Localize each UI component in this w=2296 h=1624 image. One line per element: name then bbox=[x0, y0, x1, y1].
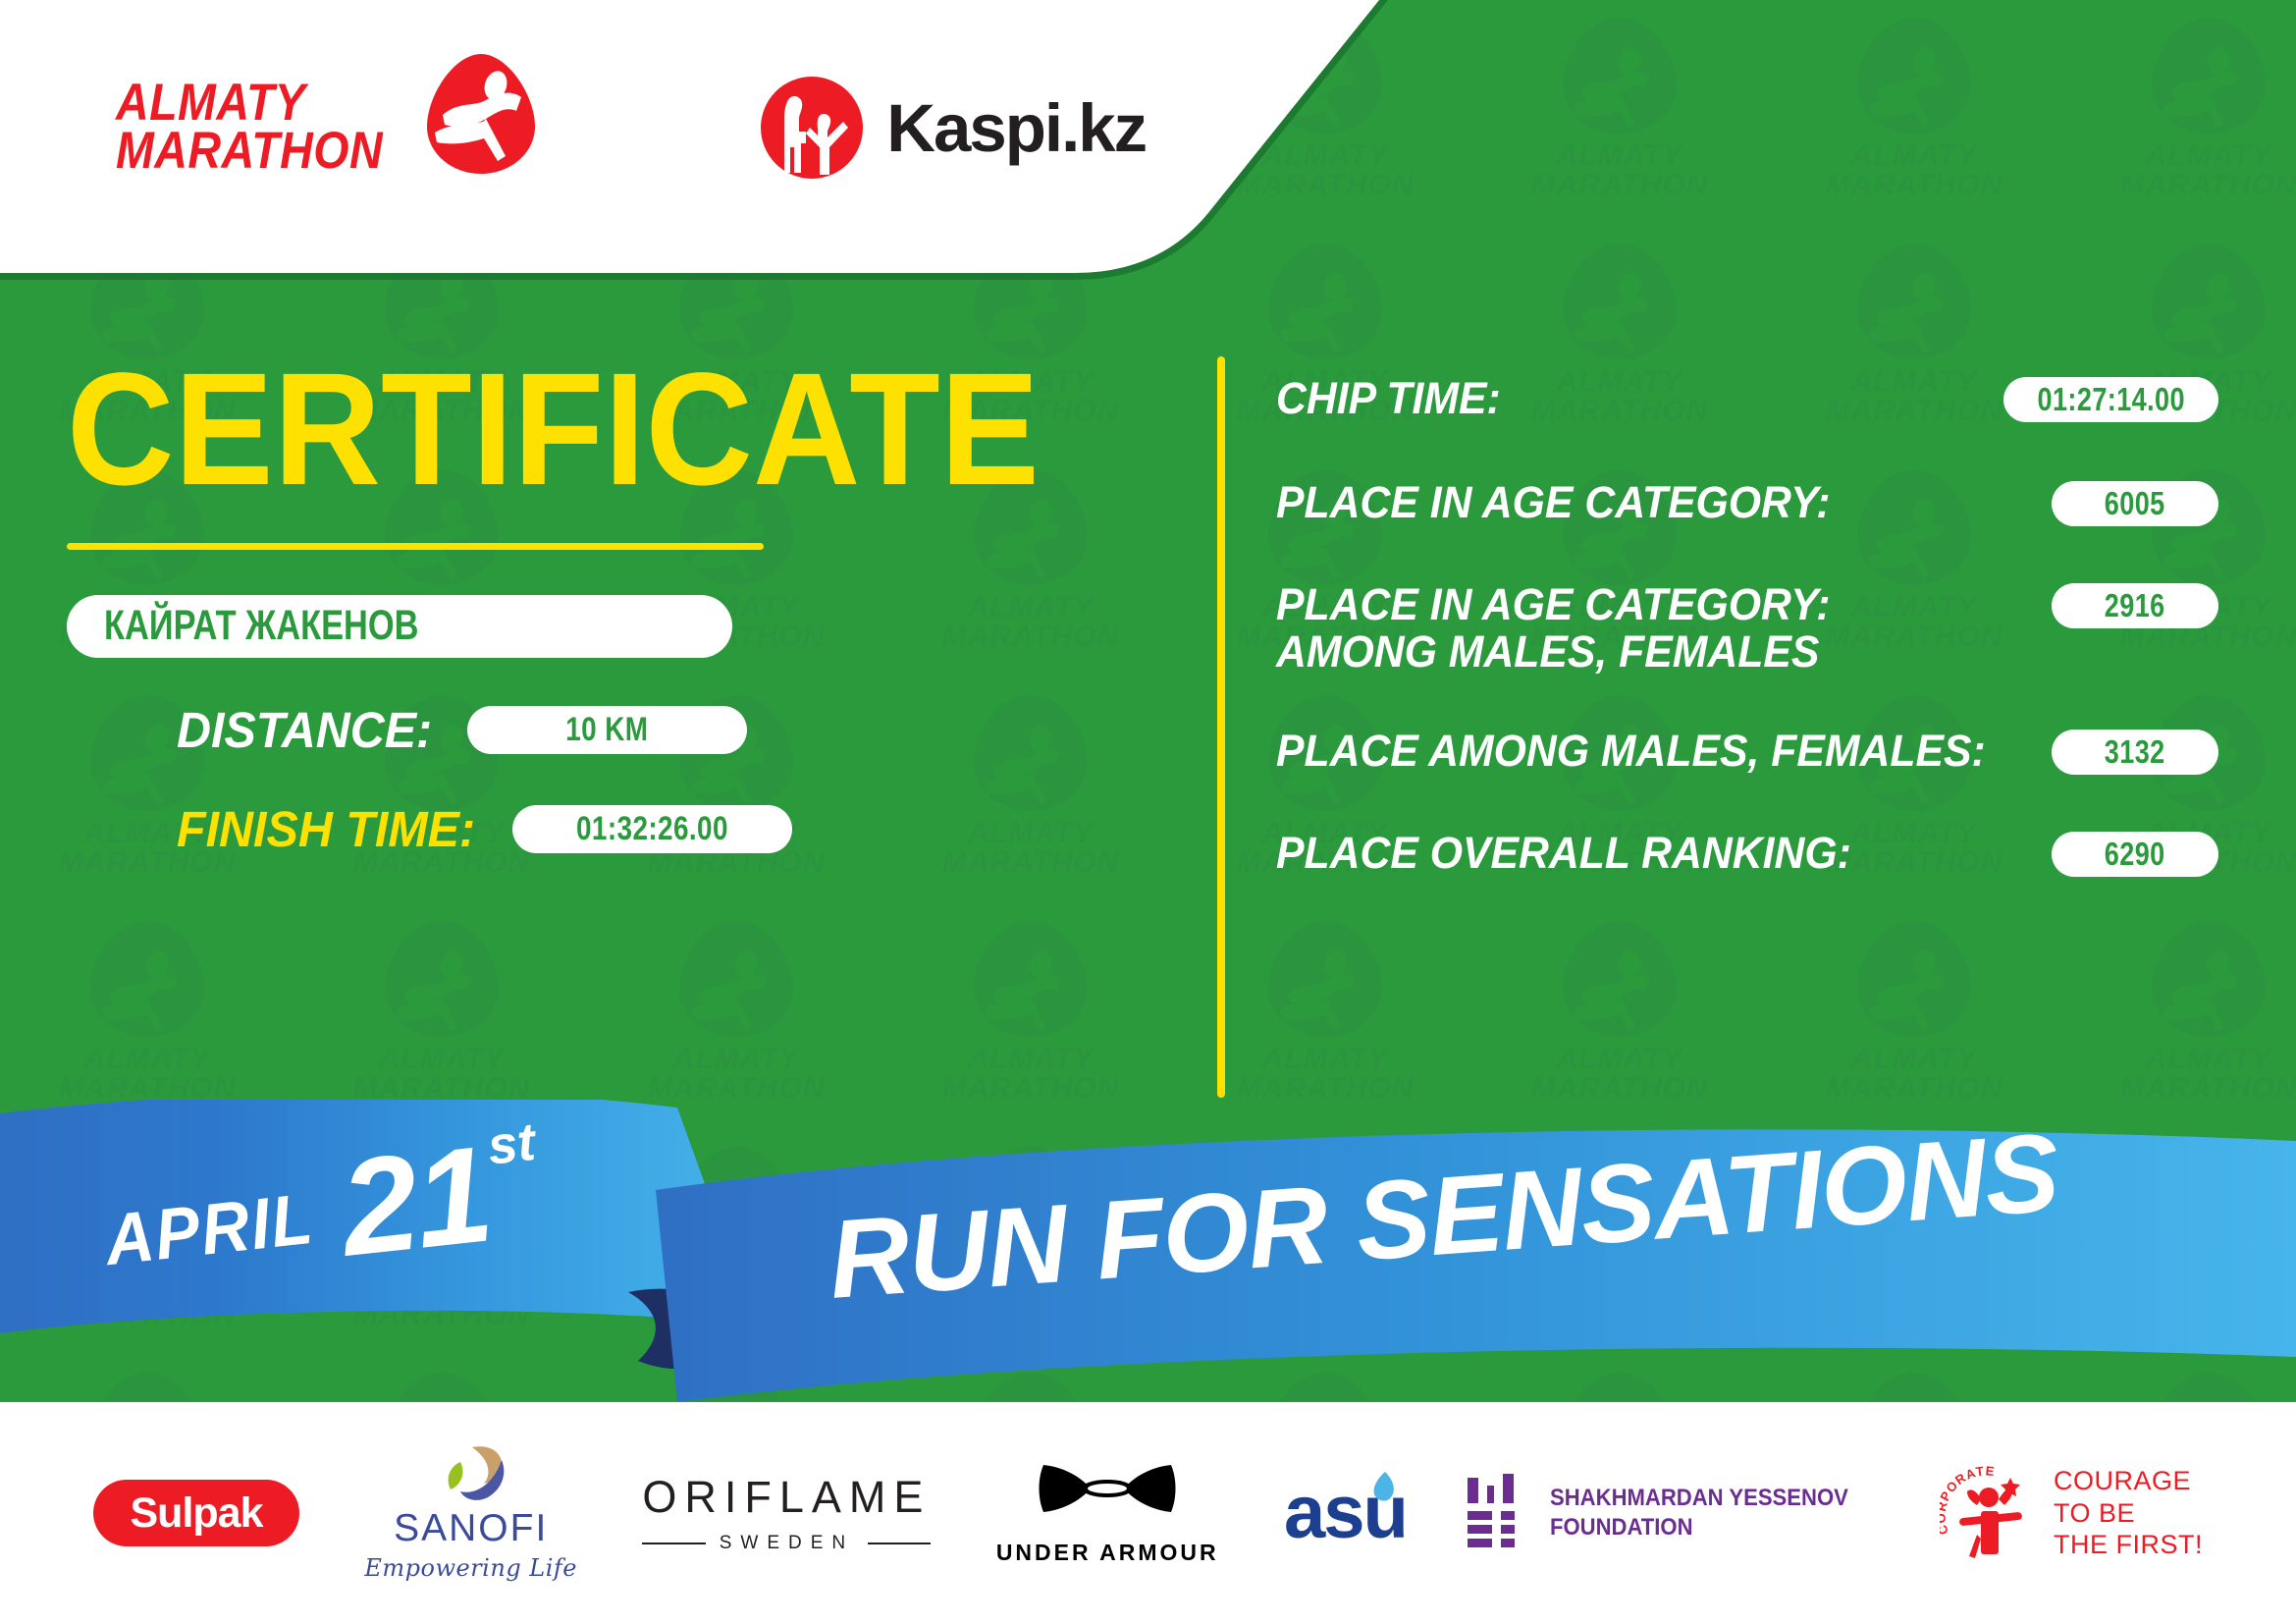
sulpak-wordmark: Sulpak bbox=[131, 1489, 263, 1538]
under-armour-icon bbox=[1034, 1461, 1181, 1534]
under-armour-wordmark: UNDER ARMOUR bbox=[996, 1540, 1219, 1566]
sponsor-yessenov-foundation[interactable]: SHAKHMARDAN YESSENOV FOUNDATION bbox=[1464, 1474, 1874, 1552]
distance-row: DISTANCE: 10 KM bbox=[177, 701, 1158, 759]
courage-figure-icon: CORPORATE FUND bbox=[1940, 1462, 2042, 1564]
place-age-category-label: PLACE IN AGE CATEGORY: bbox=[1276, 477, 1996, 526]
sponsor-under-armour[interactable]: UNDER ARMOUR bbox=[996, 1461, 1219, 1566]
oriflame-rule-left bbox=[642, 1543, 705, 1544]
finish-time-value: 01:32:26.00 bbox=[576, 810, 728, 848]
asu-droplet-icon bbox=[1365, 1470, 1399, 1509]
oriflame-sub-row: SWEDEN bbox=[642, 1533, 931, 1554]
courage-line1: COURAGE bbox=[2054, 1466, 2191, 1495]
sanofi-wordmark: SANOFI bbox=[394, 1507, 548, 1550]
place-among-males-females-value-pill: 3132 bbox=[2052, 730, 2218, 775]
event-day-suffix: st bbox=[485, 1111, 538, 1177]
place-age-category-value-pill: 6005 bbox=[2052, 481, 2218, 526]
sponsor-courage-to-be-the-first[interactable]: CORPORATE FUND COURAGE TO BE THE FIRST! bbox=[1940, 1462, 2203, 1564]
distance-label: DISTANCE: bbox=[177, 701, 432, 759]
place-age-category-among-value: 2916 bbox=[2105, 587, 2165, 624]
distance-value: 10 KM bbox=[565, 711, 648, 749]
place-age-category-among-label: PLACE IN AGE CATEGORY: AMONG MALES, FEMA… bbox=[1276, 579, 1996, 675]
event-month: APRIL bbox=[101, 1178, 318, 1282]
oriflame-rule-right bbox=[868, 1543, 931, 1544]
result-row-place-age-category-among: PLACE IN AGE CATEGORY: AMONG MALES, FEMA… bbox=[1276, 579, 2218, 675]
result-row-place-age-category: PLACE IN AGE CATEGORY: 6005 bbox=[1276, 477, 2218, 532]
kaspi-logo[interactable]: Kaspi.kz bbox=[759, 75, 1146, 181]
yessenov-line1: SHAKHMARDAN YESSENOV bbox=[1550, 1485, 1848, 1511]
runner-teardrop-icon bbox=[415, 48, 548, 181]
participant-name: КАЙРАТ ЖАКЕНОВ bbox=[104, 602, 419, 650]
place-age-category-value: 6005 bbox=[2105, 485, 2165, 522]
page-title: CERTIFICATE bbox=[67, 353, 1082, 506]
courage-wordmark: COURAGE TO BE THE FIRST! bbox=[2054, 1465, 2203, 1560]
place-among-males-females-label: PLACE AMONG MALES, FEMALES: bbox=[1276, 726, 1996, 775]
chip-time-label: CHIP TIME: bbox=[1276, 373, 1949, 422]
yessenov-wordmark: SHAKHMARDAN YESSENOV FOUNDATION bbox=[1550, 1484, 1848, 1543]
certificate-canvas: ALMATY MARATHON ALMATY MARATHON bbox=[0, 0, 2296, 1624]
left-column: CERTIFICATE КАЙРАТ ЖАКЕНОВ DISTANCE: 10 … bbox=[59, 353, 1158, 858]
chip-time-value: 01:27:14.00 bbox=[2037, 381, 2184, 418]
sponsors-bar: Sulpak SANOFI Empowering Life ORIFLAME S… bbox=[0, 1402, 2296, 1624]
result-row-place-among-males-females: PLACE AMONG MALES, FEMALES: 3132 bbox=[1276, 726, 2218, 781]
column-divider bbox=[1217, 356, 1225, 1098]
kaspi-people-circle-icon bbox=[759, 75, 865, 181]
almaty-marathon-logo[interactable]: ALMATY MARATHON bbox=[116, 76, 548, 181]
almaty-marathon-wordmark: ALMATY MARATHON bbox=[116, 80, 383, 176]
finish-time-value-pill: 01:32:26.00 bbox=[512, 805, 792, 853]
header-logos: ALMATY MARATHON Kaspi.kz bbox=[0, 0, 1178, 255]
sanofi-mark-icon bbox=[433, 1444, 509, 1505]
sanofi-tagline: Empowering Life bbox=[364, 1554, 577, 1582]
result-row-chip-time: CHIP TIME: 01:27:14.00 bbox=[1276, 373, 2218, 428]
sponsor-sanofi[interactable]: SANOFI Empowering Life bbox=[364, 1444, 577, 1582]
place-overall-value-pill: 6290 bbox=[2052, 832, 2218, 877]
courage-line2: TO BE bbox=[2054, 1498, 2135, 1528]
title-underline bbox=[67, 543, 764, 550]
result-row-place-overall: PLACE OVERALL RANKING: 6290 bbox=[1276, 828, 2218, 883]
participant-name-field: КАЙРАТ ЖАКЕНОВ bbox=[67, 595, 732, 658]
sponsor-asu[interactable]: asu bbox=[1284, 1476, 1399, 1550]
sulpak-logo: Sulpak bbox=[93, 1480, 299, 1546]
distance-value-pill: 10 KM bbox=[467, 706, 747, 754]
courage-line3: THE FIRST! bbox=[2054, 1530, 2203, 1559]
oriflame-country: SWEDEN bbox=[720, 1533, 854, 1554]
oriflame-wordmark: ORIFLAME bbox=[642, 1472, 931, 1523]
yessenov-foundation-mark-icon bbox=[1464, 1474, 1526, 1552]
place-age-category-among-value-pill: 2916 bbox=[2052, 583, 2218, 628]
results-column: CHIP TIME: 01:27:14.00 PLACE IN AGE CATE… bbox=[1276, 373, 2218, 916]
place-among-males-females-value: 3132 bbox=[2105, 733, 2165, 771]
finish-time-row: FINISH TIME: 01:32:26.00 bbox=[177, 800, 1158, 858]
event-day: 21 bbox=[337, 1139, 496, 1264]
sponsor-sulpak[interactable]: Sulpak bbox=[93, 1480, 299, 1546]
finish-time-label: FINISH TIME: bbox=[177, 800, 475, 858]
marathon-logo-line2: MARATHON bbox=[116, 128, 383, 176]
place-overall-label: PLACE OVERALL RANKING: bbox=[1276, 828, 1996, 877]
kaspi-wordmark: Kaspi.kz bbox=[886, 89, 1146, 167]
place-overall-value: 6290 bbox=[2105, 836, 2165, 873]
sponsor-oriflame[interactable]: ORIFLAME SWEDEN bbox=[642, 1472, 931, 1554]
chip-time-value-pill: 01:27:14.00 bbox=[2003, 377, 2218, 422]
marathon-logo-line1: ALMATY bbox=[116, 80, 383, 128]
yessenov-line2: FOUNDATION bbox=[1550, 1514, 1693, 1541]
